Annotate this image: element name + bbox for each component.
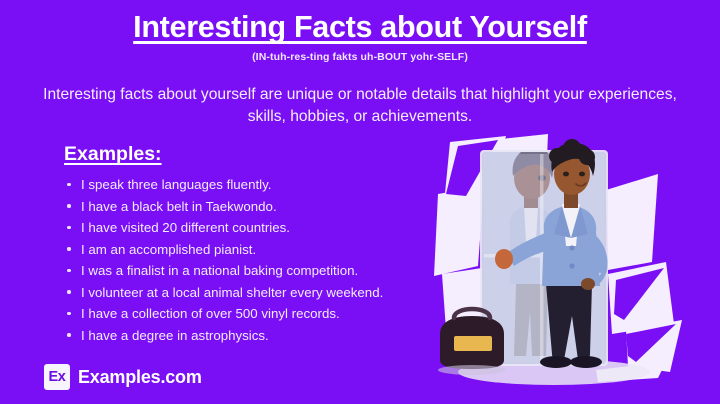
- examples-section: Examples: I speak three languages fluent…: [62, 143, 462, 347]
- pronunciation-guide: (IN-tuh-res-ting fakts uh-BOUT yohr-SELF…: [0, 51, 720, 63]
- list-item: I have visited 20 different countries.: [62, 218, 462, 237]
- definition-text: Interesting facts about yourself are uni…: [40, 84, 680, 128]
- list-item: I speak three languages fluently.: [62, 175, 462, 194]
- logo-badge-icon: Ex: [44, 364, 70, 390]
- examples-list: I speak three languages fluently. I have…: [62, 175, 462, 345]
- list-item: I was a finalist in a national baking co…: [62, 261, 462, 280]
- list-item: I have a degree in astrophysics.: [62, 326, 462, 345]
- illustration: [420, 134, 720, 404]
- infographic-card: Interesting Facts about Yourself (IN-tuh…: [0, 0, 720, 404]
- page-title: Interesting Facts about Yourself: [0, 0, 720, 44]
- list-item: I am an accomplished pianist.: [62, 240, 462, 259]
- list-item: I have a collection of over 500 vinyl re…: [62, 304, 462, 323]
- list-item: I have a black belt in Taekwondo.: [62, 197, 462, 216]
- header: Interesting Facts about Yourself (IN-tuh…: [0, 0, 720, 63]
- logo-text: Examples.com: [78, 367, 202, 388]
- list-item: I volunteer at a local animal shelter ev…: [62, 283, 462, 302]
- brand-logo[interactable]: Ex Examples.com: [44, 364, 202, 390]
- examples-heading: Examples:: [64, 143, 462, 166]
